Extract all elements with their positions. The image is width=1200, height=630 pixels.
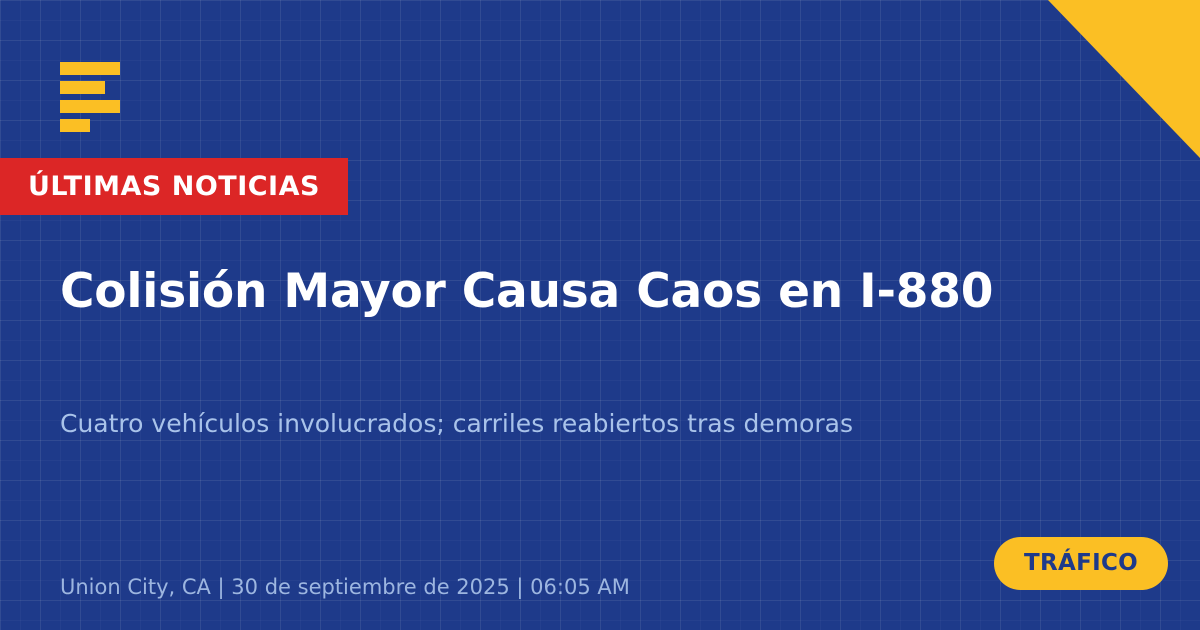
subtitle-text: Cuatro vehículos involucrados; carriles … <box>60 408 1060 441</box>
news-card: ÚLTIMAS NOTICIAS Colisión Mayor Causa Ca… <box>0 0 1200 630</box>
footer-metadata: Union City, CA | 30 de septiembre de 202… <box>60 577 630 598</box>
page-title: Colisión Mayor Causa Caos en I-880 <box>60 264 1140 319</box>
logo-bar-3-icon <box>60 100 120 113</box>
category-badge-label: TRÁFICO <box>1024 552 1138 575</box>
logo-bar-4-icon <box>60 119 90 132</box>
corner-wedge-decoration <box>1048 0 1200 158</box>
brand-logo <box>60 62 120 132</box>
breaking-news-badge: ÚLTIMAS NOTICIAS <box>0 158 348 215</box>
breaking-news-label: ÚLTIMAS NOTICIAS <box>28 173 320 200</box>
category-badge: TRÁFICO <box>994 537 1168 590</box>
logo-bar-2-icon <box>60 81 105 94</box>
logo-bar-1-icon <box>60 62 120 75</box>
